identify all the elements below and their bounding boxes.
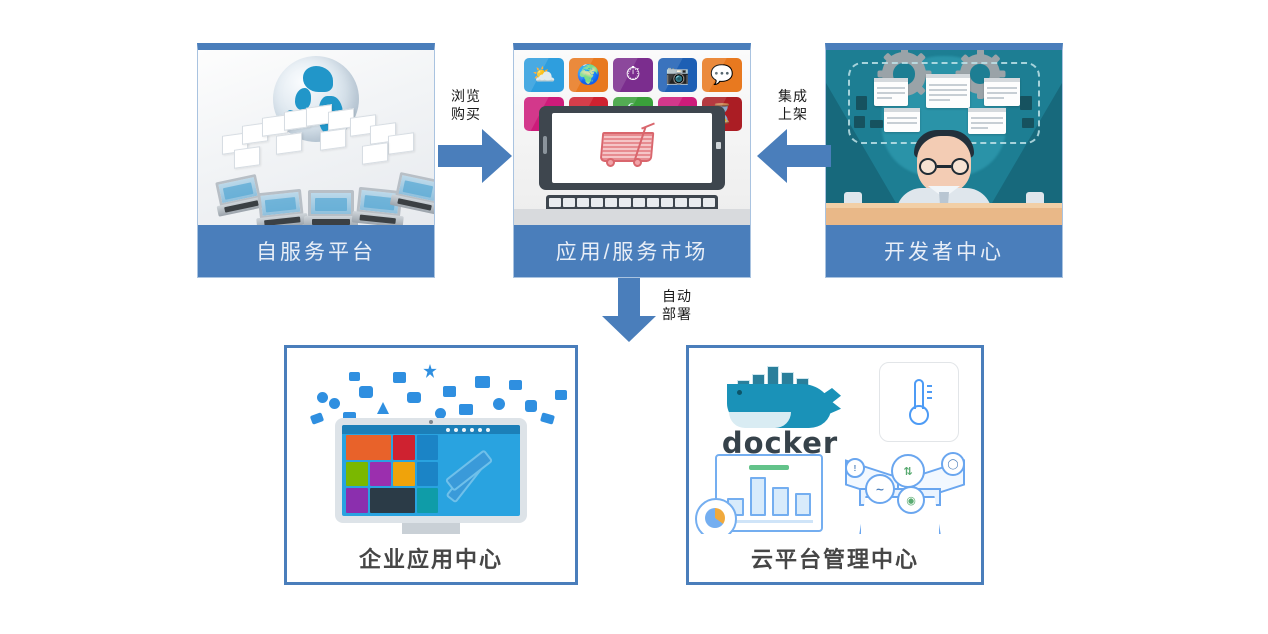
thermometer-card (879, 362, 959, 442)
laptop-icon (254, 188, 309, 225)
arrow-browse-purchase (438, 127, 512, 185)
chip-icon (870, 120, 883, 128)
node-label-cloud-platform-management-center: 云平台管理中心 (689, 534, 981, 582)
whale-icon (727, 384, 831, 428)
shopping-cart-icon (601, 126, 663, 170)
arrow-label-auto-deploy: 自动 部署 (662, 288, 712, 323)
start-tiles (346, 435, 438, 513)
node-app-service-market[interactable]: ⛅ 🌍 ⏱ 📷 💬 ♫ ✎ 🍃 ☕ ⌛ (513, 43, 751, 278)
app-service-market-illustration: ⛅ 🌍 ⏱ 📷 💬 ♫ ✎ 🍃 ☕ ⌛ (514, 50, 750, 225)
arrow-label-browse-purchase: 浏览 购买 (440, 88, 492, 123)
badge-activity-icon: ∼ (865, 474, 895, 504)
chip-icon (856, 96, 867, 110)
node-developer-center[interactable]: 开发者中心 (825, 43, 1063, 278)
window-icon (926, 74, 970, 108)
tablet-device (539, 106, 725, 221)
weather-icon: ⛅ (524, 58, 564, 92)
docker-logo: docker (721, 364, 839, 456)
badge-sync-icon: ⇅ (891, 454, 925, 488)
glasses-icon (919, 158, 969, 175)
arrow-integrate-publish (757, 127, 831, 185)
node-label-app-service-market: 应用/服务市场 (514, 225, 750, 277)
clock-icon: ⏱ (613, 58, 653, 92)
chip-icon (1020, 96, 1032, 110)
pie-chart-icon (695, 498, 737, 534)
chat-icon: 💬 (702, 58, 742, 92)
open-box-icon: ⇅ ∼ ◉ ! ◯ (845, 452, 965, 534)
webcam-icon: 📷 (658, 58, 698, 92)
laptop-icon (304, 190, 358, 225)
diagram-canvas: 自服务平台 ⛅ 🌍 ⏱ 📷 💬 ♫ ✎ 🍃 ☕ ⌛ (0, 0, 1268, 634)
arrow-auto-deploy (600, 278, 658, 342)
developer-center-illustration (826, 50, 1062, 225)
node-label-developer-center: 开发者中心 (826, 225, 1062, 277)
pencil-ruler-icon (438, 451, 494, 507)
self-service-platform-illustration (198, 50, 434, 225)
window-icon (984, 78, 1020, 106)
desk-surface (514, 209, 750, 225)
badge-clock-icon: ◯ (941, 452, 965, 476)
node-enterprise-app-center[interactable]: 企业应用中心 (284, 345, 578, 585)
documents-cloud (216, 104, 416, 166)
globe-icon: 🌍 (569, 58, 609, 92)
badge-battery-icon: ◉ (897, 486, 925, 514)
desktop-monitor (335, 418, 527, 534)
badge-alert-icon: ! (845, 458, 865, 478)
chip-icon (1022, 118, 1034, 128)
node-cloud-platform-management-center[interactable]: docker (686, 345, 984, 585)
node-label-enterprise-app-center: 企业应用中心 (287, 534, 575, 582)
chip-icon (854, 116, 865, 128)
thermometer-icon (909, 379, 929, 425)
window-icon (884, 108, 920, 132)
window-icon (968, 108, 1006, 134)
enterprise-app-center-illustration (287, 348, 575, 534)
node-self-service-platform[interactable]: 自服务平台 (197, 43, 435, 278)
cloud-platform-illustration: docker (689, 348, 981, 534)
arrow-label-integrate-publish: 集成 上架 (767, 88, 819, 123)
window-icon (874, 78, 908, 106)
node-label-self-service-platform: 自服务平台 (198, 225, 434, 277)
desk-surface (826, 203, 1062, 225)
taskbar (342, 425, 520, 434)
